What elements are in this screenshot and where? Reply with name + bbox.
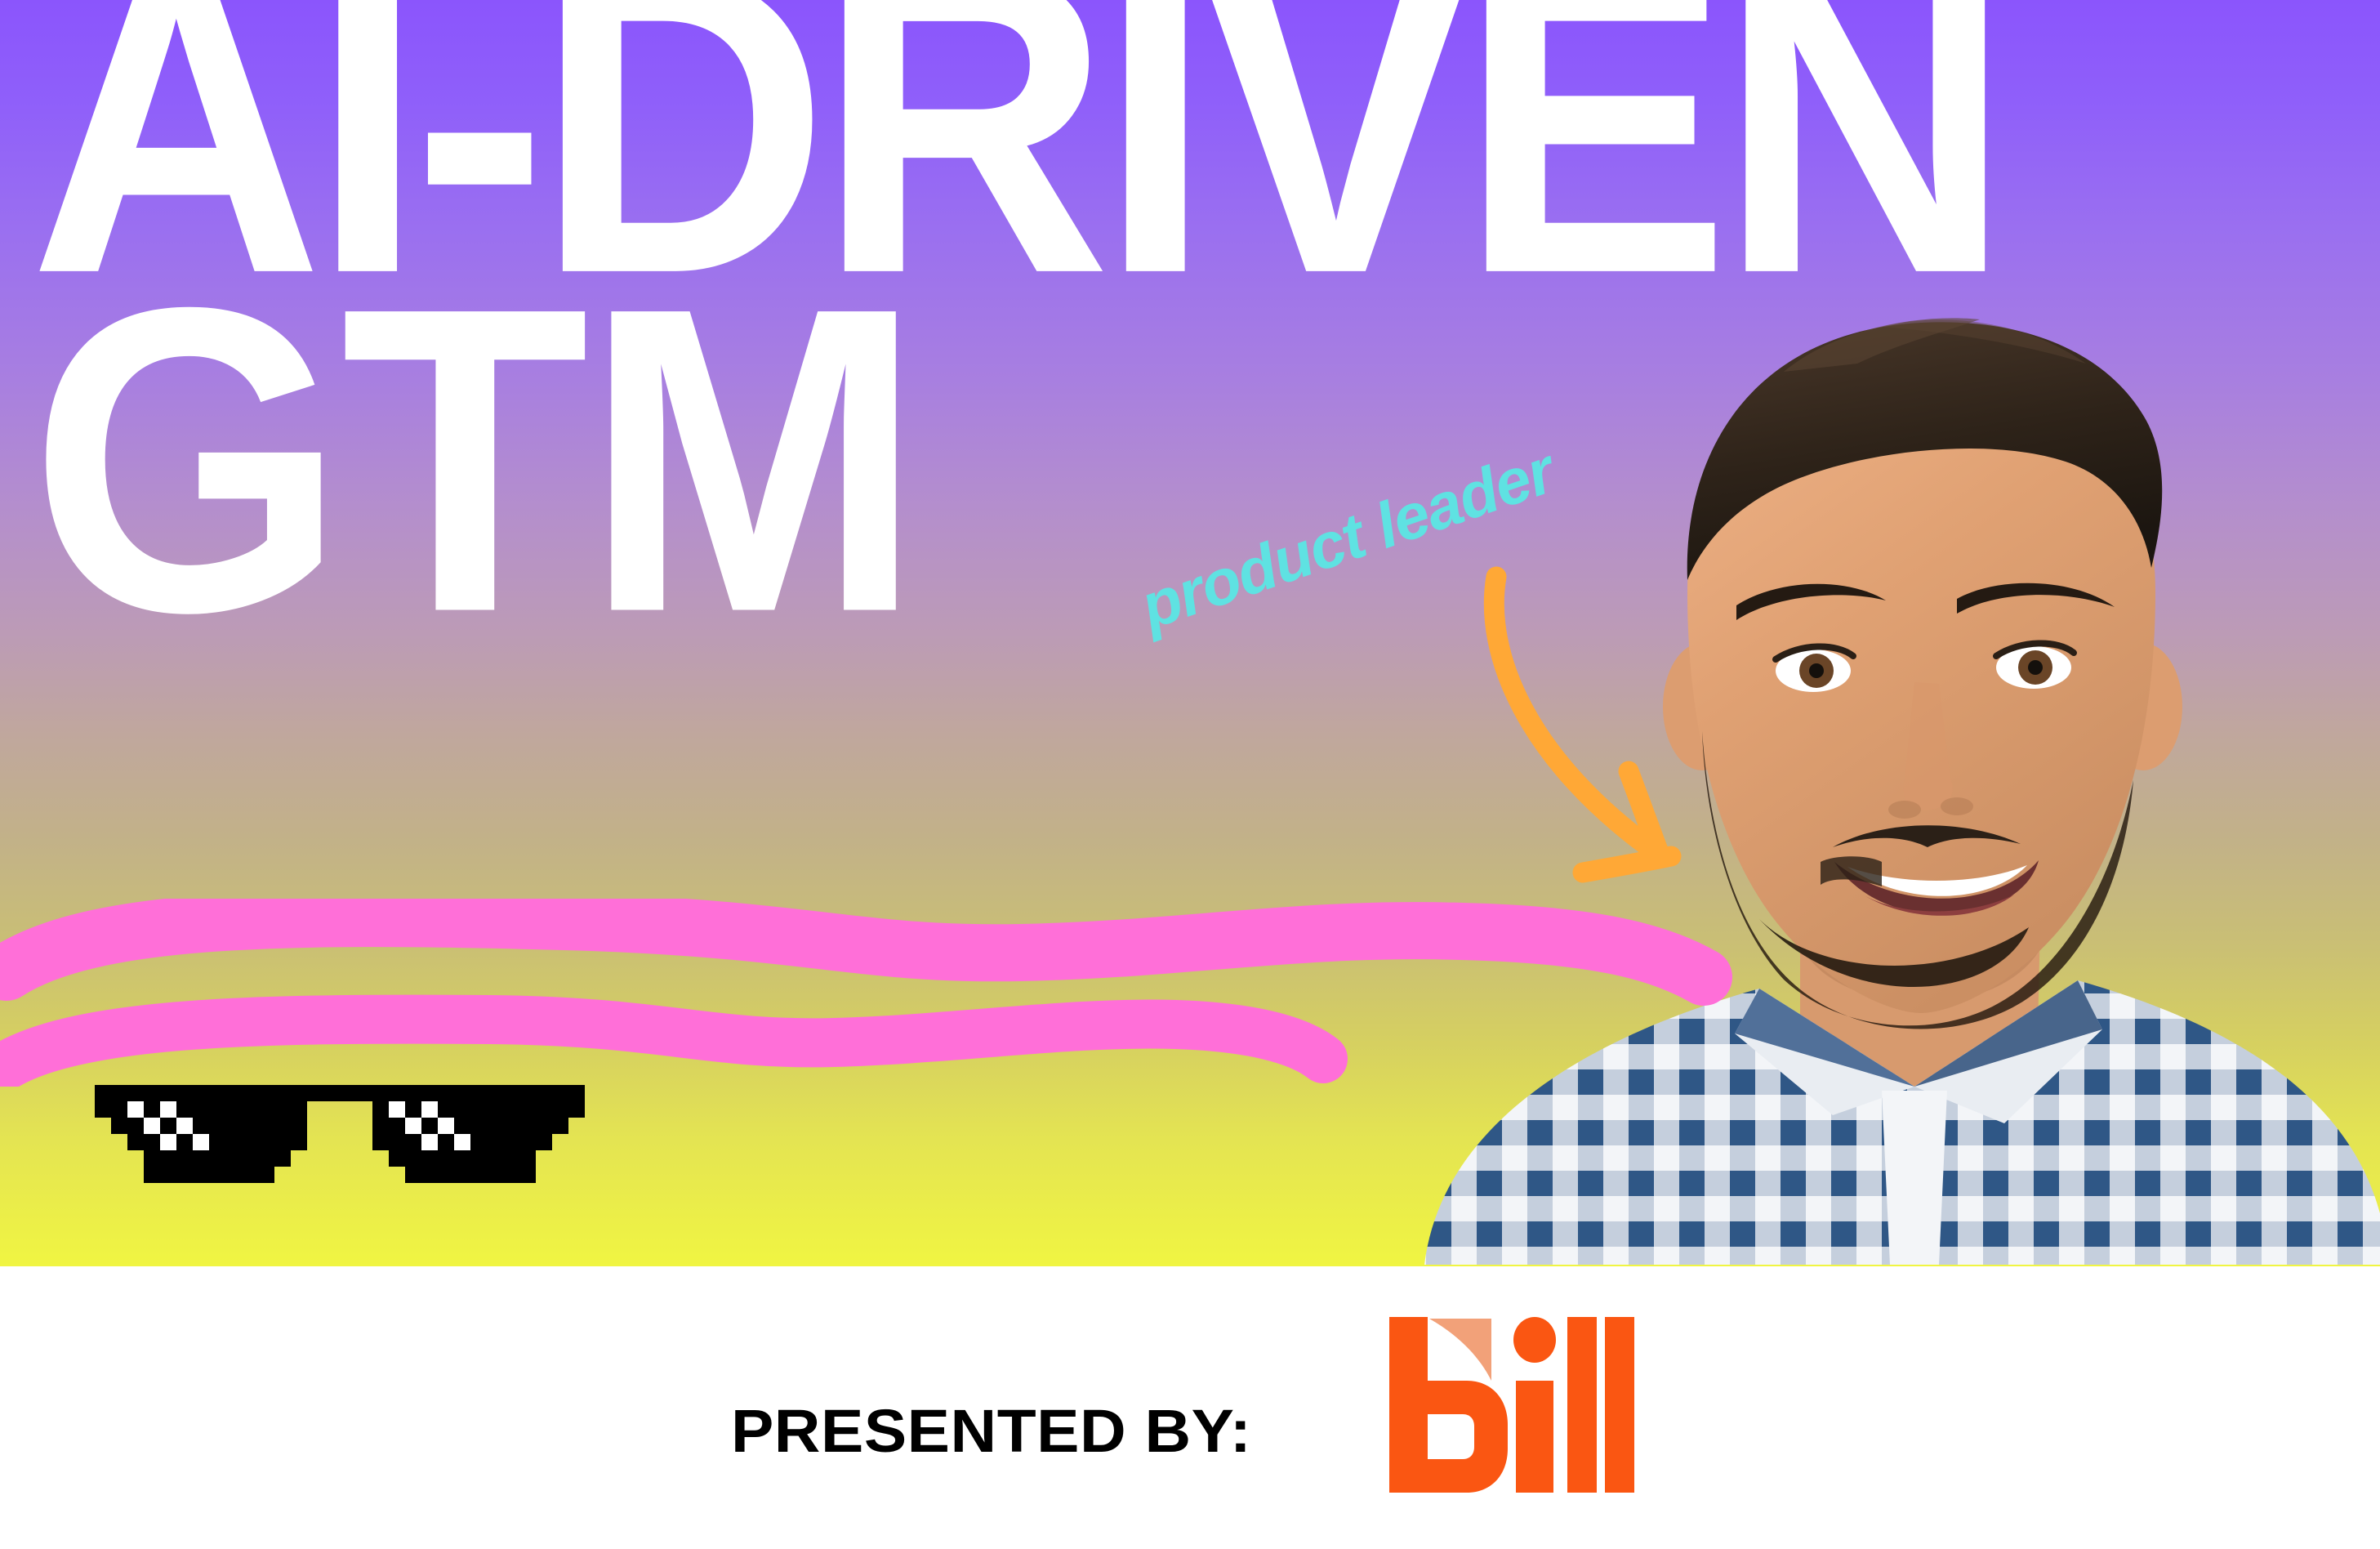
footer-bar: PRESENTED BY: bbox=[0, 1266, 2380, 1549]
curved-arrow-icon bbox=[1478, 564, 1789, 907]
slide-canvas: AI-DRIVEN GTM bbox=[0, 0, 2380, 1549]
pixel-sunglasses-icon bbox=[78, 1085, 601, 1199]
hero-banner: AI-DRIVEN GTM bbox=[0, 0, 2380, 1266]
presented-by-label: PRESENTED BY: bbox=[731, 1396, 1251, 1466]
pink-squiggle-underline-icon bbox=[0, 899, 1756, 1087]
bill-logo[interactable] bbox=[1389, 1317, 1634, 1493]
